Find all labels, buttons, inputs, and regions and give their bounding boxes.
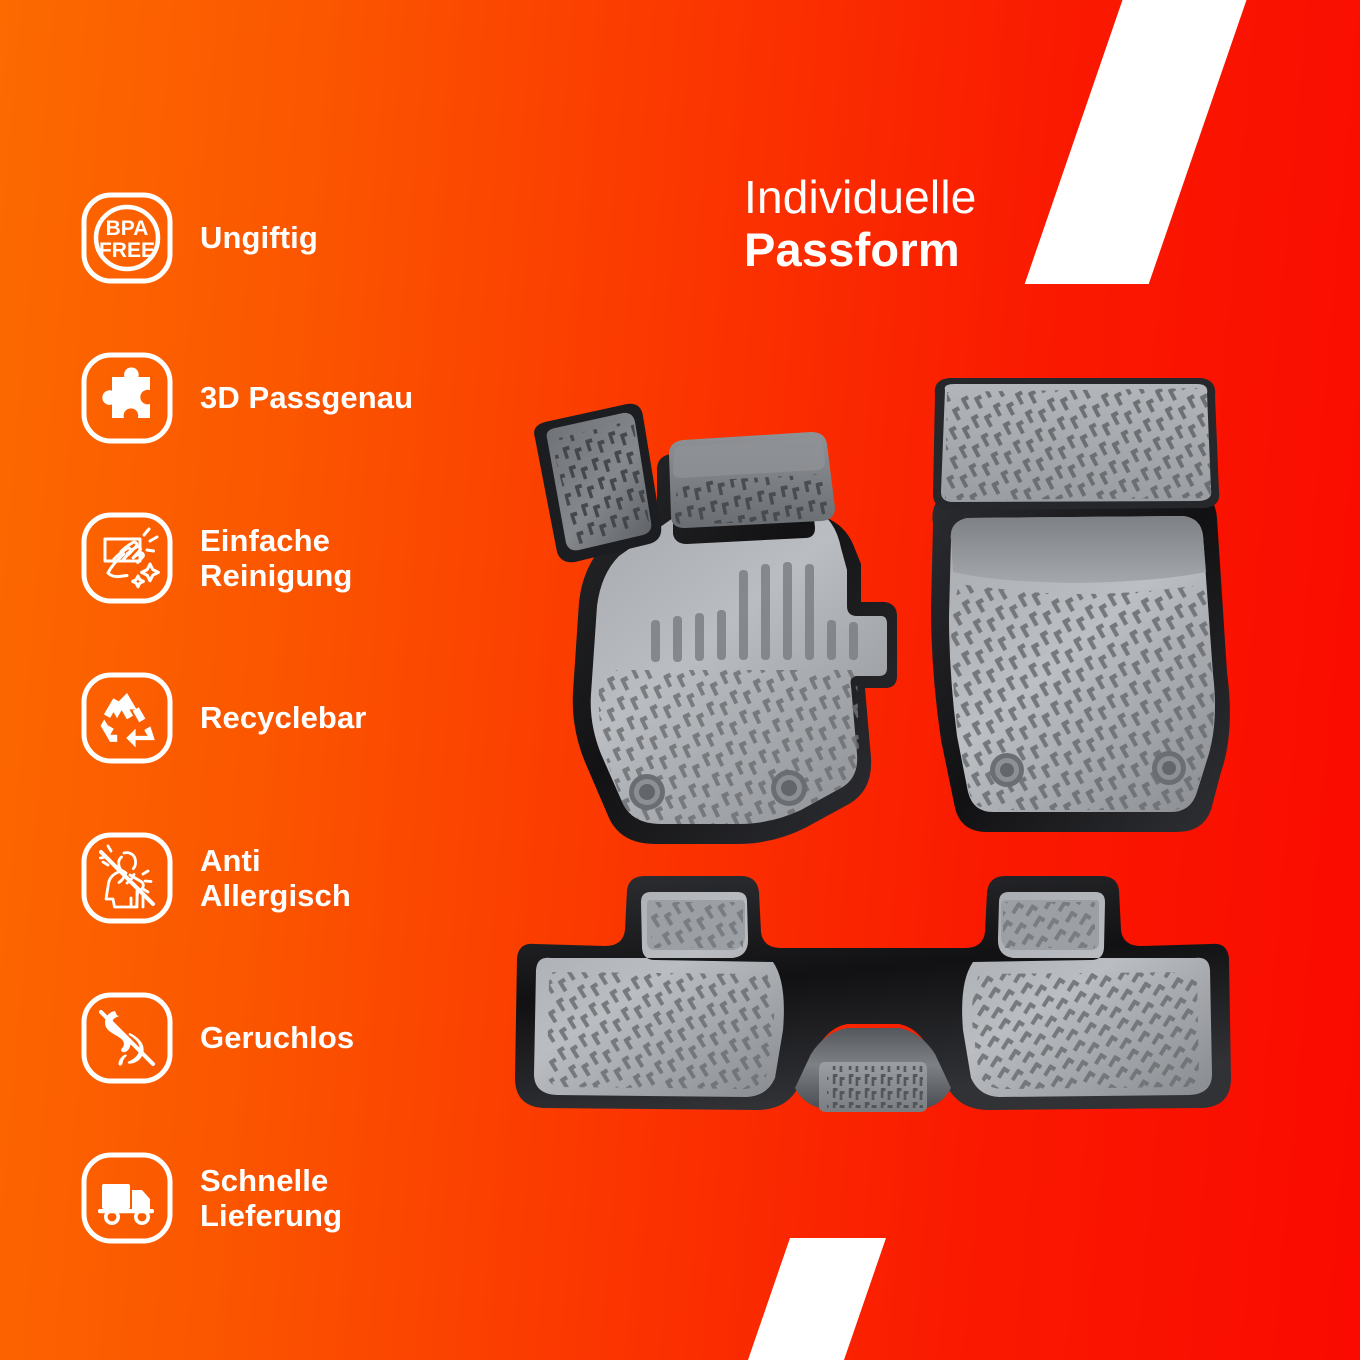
driver-floor-mat [505, 358, 925, 868]
promo-canvas: Individuelle Passform BPA FREE Ungiftig [0, 0, 1360, 1360]
rear-floor-mat [495, 862, 1250, 1162]
passenger-floor-mat [915, 372, 1255, 852]
product-image-group [0, 0, 1360, 1360]
